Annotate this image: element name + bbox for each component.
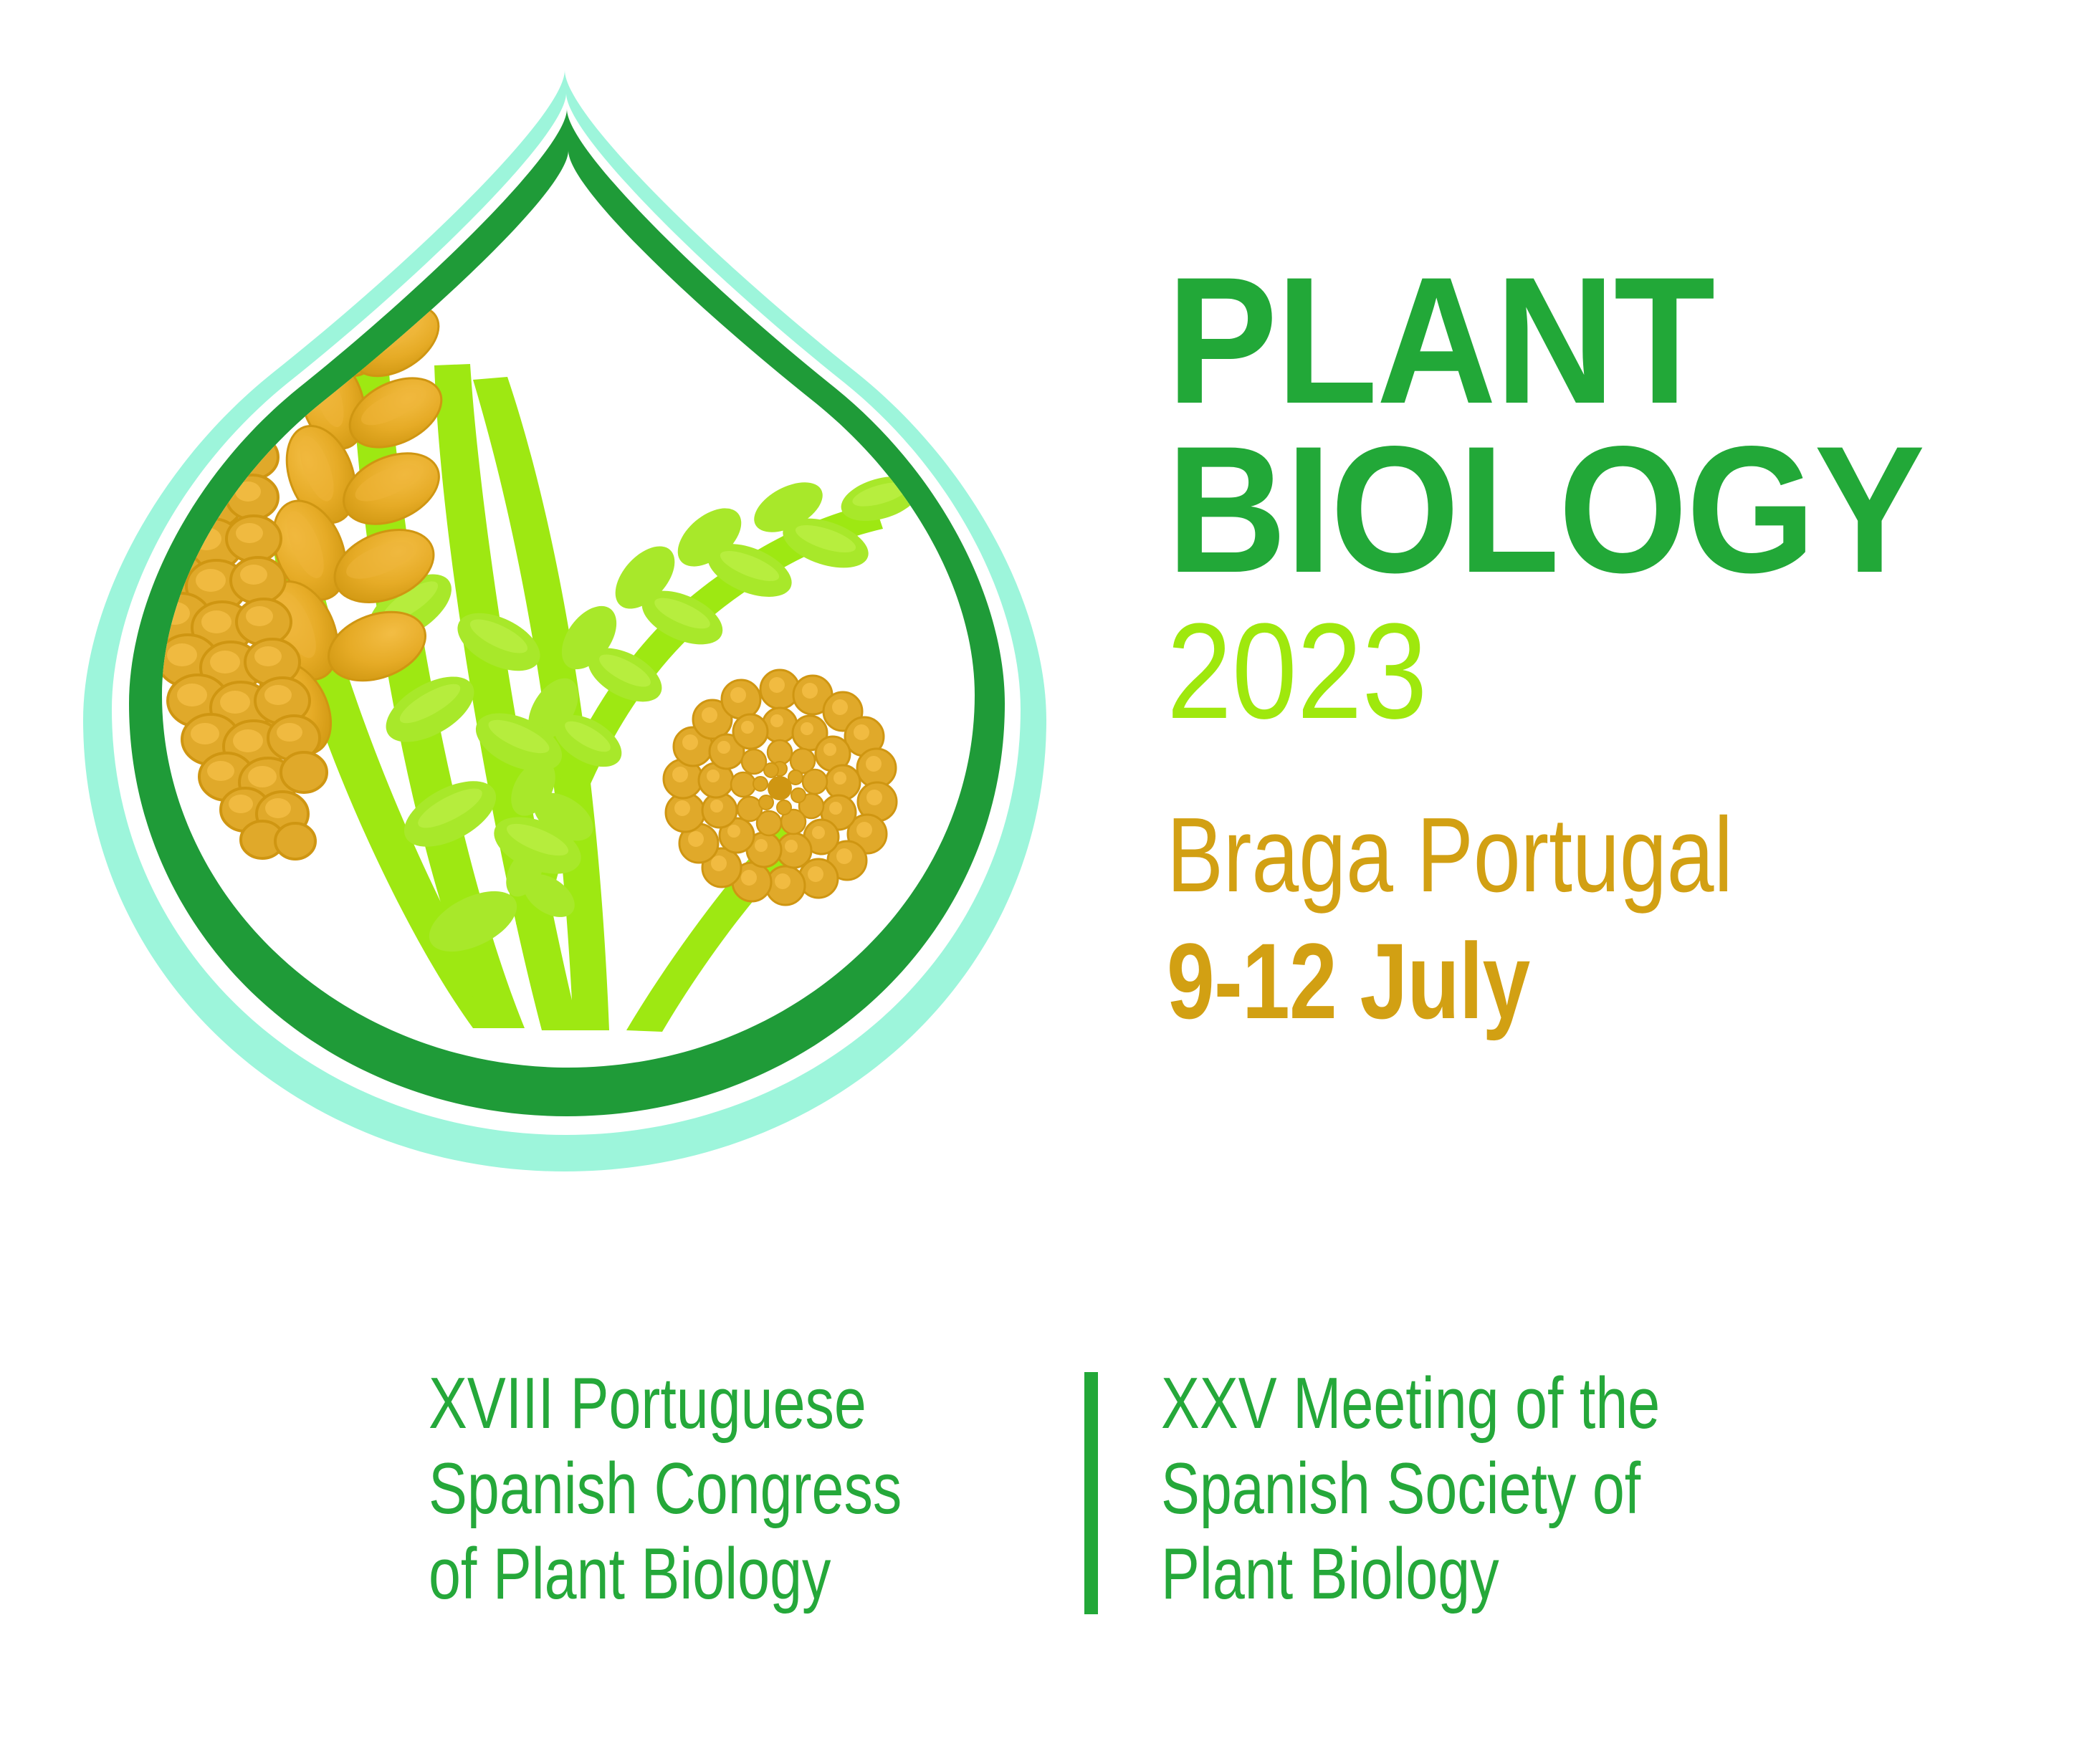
footer-right-line-1: XXV Meeting of the <box>1161 1361 1734 1447</box>
footer-right-column: XXV Meeting of the Spanish Society of Pl… <box>1161 1361 1878 1618</box>
logo-canvas: PLANT BIOLOGY 2023 Braga Portugal 9-12 J… <box>0 0 2092 1764</box>
wordmark-city: Braga Portugal <box>1167 802 1878 909</box>
plant-biology-logo-mark <box>43 64 1089 1182</box>
footer-right-line-2: Spanish Society of <box>1161 1447 1734 1532</box>
wordmark-dates: 9-12 July <box>1167 927 1878 1035</box>
footer-left-line-1: XVIII Portuguese <box>429 1361 933 1447</box>
footer-left-line-3: of Plant Biology <box>429 1532 933 1617</box>
footer-right-line-3: Plant Biology <box>1161 1532 1734 1617</box>
wordmark-biology: BIOLOGY <box>1167 427 1984 593</box>
footer-left-line-2: Spanish Congress <box>429 1447 933 1532</box>
footer-left-column: XVIII Portuguese Spanish Congress of Pla… <box>429 1361 1059 1618</box>
footer-divider <box>1084 1372 1098 1614</box>
wordmark: PLANT BIOLOGY 2023 Braga Portugal 9-12 J… <box>1167 258 2055 1035</box>
wordmark-year: 2023 <box>1167 603 1931 739</box>
wordmark-plant: PLANT <box>1167 258 1984 424</box>
footer: XVIII Portuguese Spanish Congress of Pla… <box>0 1361 2092 1662</box>
